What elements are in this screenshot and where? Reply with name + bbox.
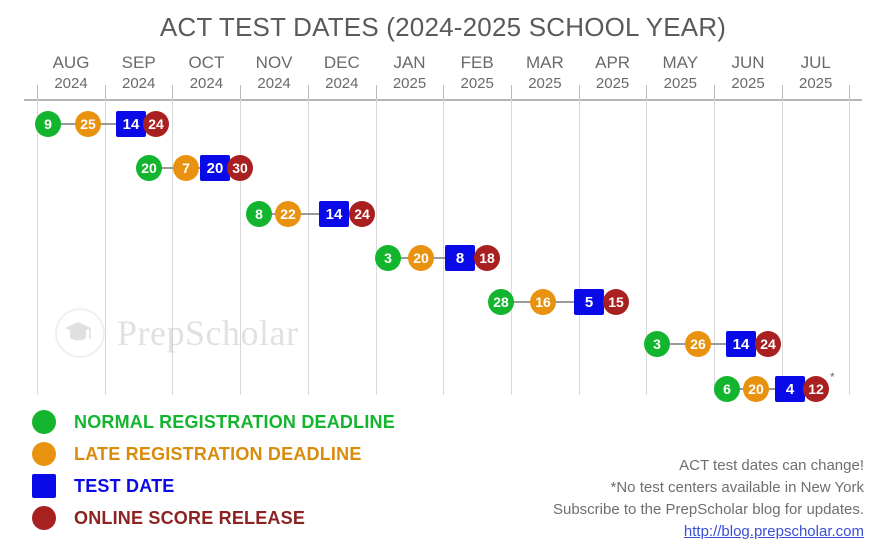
month-year: 2025 <box>511 73 579 94</box>
month-label-dec: DEC2024 <box>308 52 376 94</box>
marker-late[interactable]: 20 <box>408 245 434 271</box>
month-year: 2024 <box>172 73 240 94</box>
marker-normal[interactable]: 8 <box>246 201 272 227</box>
legend-item[interactable]: TEST DATE <box>32 470 395 502</box>
marker-late[interactable]: 16 <box>530 289 556 315</box>
legend-label: LATE REGISTRATION DEADLINE <box>74 444 362 465</box>
marker-normal[interactable]: 9 <box>35 111 61 137</box>
legend-label: NORMAL REGISTRATION DEADLINE <box>74 412 395 433</box>
legend-swatch-circle <box>32 442 56 466</box>
month-year: 2025 <box>782 73 850 94</box>
month-name: SEP <box>105 52 173 73</box>
timeline-row: 8221424 <box>0 197 886 231</box>
marker-late[interactable]: 26 <box>685 331 711 357</box>
month-name: APR <box>579 52 647 73</box>
month-name: JUL <box>782 52 850 73</box>
month-year: 2025 <box>714 73 782 94</box>
axis-tick <box>782 85 783 99</box>
month-name: NOV <box>240 52 308 73</box>
marker-normal[interactable]: 6 <box>714 376 740 402</box>
month-year: 2024 <box>308 73 376 94</box>
month-name: MAY <box>646 52 714 73</box>
marker-normal[interactable]: 28 <box>488 289 514 315</box>
marker-test[interactable]: 5 <box>574 289 604 315</box>
month-year: 2024 <box>105 73 173 94</box>
marker-test[interactable]: 14 <box>726 331 756 357</box>
axis-tick <box>714 85 715 99</box>
marker-score[interactable]: 18 <box>474 245 500 271</box>
marker-test[interactable]: 14 <box>116 111 146 137</box>
axis-tick <box>579 85 580 99</box>
axis-tick <box>376 85 377 99</box>
month-year: 2025 <box>443 73 511 94</box>
timeline-row: 2816515 <box>0 285 886 319</box>
marker-normal[interactable]: 3 <box>644 331 670 357</box>
legend: NORMAL REGISTRATION DEADLINELATE REGISTR… <box>32 406 395 534</box>
footnote-asterisk: * <box>830 370 835 384</box>
axis-tick <box>240 85 241 99</box>
timeline-row: 320818 <box>0 241 886 275</box>
marker-late[interactable]: 7 <box>173 155 199 181</box>
axis-tick <box>105 85 106 99</box>
legend-label: ONLINE SCORE RELEASE <box>74 508 305 529</box>
marker-test[interactable]: 4 <box>775 376 805 402</box>
timeline-row: 3261424 <box>0 327 886 361</box>
month-year: 2024 <box>240 73 308 94</box>
month-year: 2025 <box>376 73 444 94</box>
marker-late[interactable]: 25 <box>75 111 101 137</box>
footer-line-2: *No test centers available in New York <box>553 477 864 499</box>
month-year: 2025 <box>579 73 647 94</box>
month-label-nov: NOV2024 <box>240 52 308 94</box>
marker-normal[interactable]: 20 <box>136 155 162 181</box>
legend-swatch-square <box>32 474 56 498</box>
marker-normal[interactable]: 3 <box>375 245 401 271</box>
month-label-jan: JAN2025 <box>376 52 444 94</box>
month-name: AUG <box>37 52 105 73</box>
marker-score[interactable]: 24 <box>349 201 375 227</box>
page-title: ACT TEST DATES (2024-2025 SCHOOL YEAR) <box>0 12 886 43</box>
act-test-dates-timeline: ACT TEST DATES (2024-2025 SCHOOL YEAR) A… <box>0 0 886 550</box>
legend-swatch-circle <box>32 506 56 530</box>
month-label-apr: APR2025 <box>579 52 647 94</box>
axis-tick <box>37 85 38 99</box>
month-name: OCT <box>172 52 240 73</box>
legend-label: TEST DATE <box>74 476 174 497</box>
month-label-sep: SEP2024 <box>105 52 173 94</box>
timeline-plot-area: 9251424207203082214243208182816515326142… <box>0 99 886 395</box>
month-name: FEB <box>443 52 511 73</box>
footer-notes: ACT test dates can change! *No test cent… <box>553 455 864 543</box>
marker-test[interactable]: 14 <box>319 201 349 227</box>
axis-tick <box>308 85 309 99</box>
month-name: MAR <box>511 52 579 73</box>
marker-score[interactable]: 30 <box>227 155 253 181</box>
month-year: 2024 <box>37 73 105 94</box>
marker-test[interactable]: 8 <box>445 245 475 271</box>
month-name: DEC <box>308 52 376 73</box>
month-label-jun: JUN2025 <box>714 52 782 94</box>
legend-item[interactable]: LATE REGISTRATION DEADLINE <box>32 438 395 470</box>
legend-swatch-circle <box>32 410 56 434</box>
marker-score[interactable]: 24 <box>143 111 169 137</box>
legend-item[interactable]: ONLINE SCORE RELEASE <box>32 502 395 534</box>
marker-score[interactable]: 15 <box>603 289 629 315</box>
month-label-feb: FEB2025 <box>443 52 511 94</box>
axis-tick <box>443 85 444 99</box>
prepscholar-blog-link[interactable]: http://blog.prepscholar.com <box>553 521 864 543</box>
marker-score[interactable]: 12 <box>803 376 829 402</box>
marker-score[interactable]: 24 <box>755 331 781 357</box>
timeline-row: 9251424 <box>0 107 886 141</box>
marker-late[interactable]: 20 <box>743 376 769 402</box>
legend-item[interactable]: NORMAL REGISTRATION DEADLINE <box>32 406 395 438</box>
month-name: JAN <box>376 52 444 73</box>
month-label-oct: OCT2024 <box>172 52 240 94</box>
marker-late[interactable]: 22 <box>275 201 301 227</box>
axis-tick <box>511 85 512 99</box>
marker-test[interactable]: 20 <box>200 155 230 181</box>
axis-tick <box>646 85 647 99</box>
month-label-mar: MAR2025 <box>511 52 579 94</box>
footer-line-1: ACT test dates can change! <box>553 455 864 477</box>
axis-tick <box>849 85 850 99</box>
timeline-row: 2072030 <box>0 151 886 185</box>
month-name: JUN <box>714 52 782 73</box>
month-label-aug: AUG2024 <box>37 52 105 94</box>
month-label-may: MAY2025 <box>646 52 714 94</box>
axis-tick <box>172 85 173 99</box>
month-label-jul: JUL2025 <box>782 52 850 94</box>
footer-line-3: Subscribe to the PrepScholar blog for up… <box>553 499 864 521</box>
month-year: 2025 <box>646 73 714 94</box>
timeline-row: 620412* <box>0 372 886 406</box>
